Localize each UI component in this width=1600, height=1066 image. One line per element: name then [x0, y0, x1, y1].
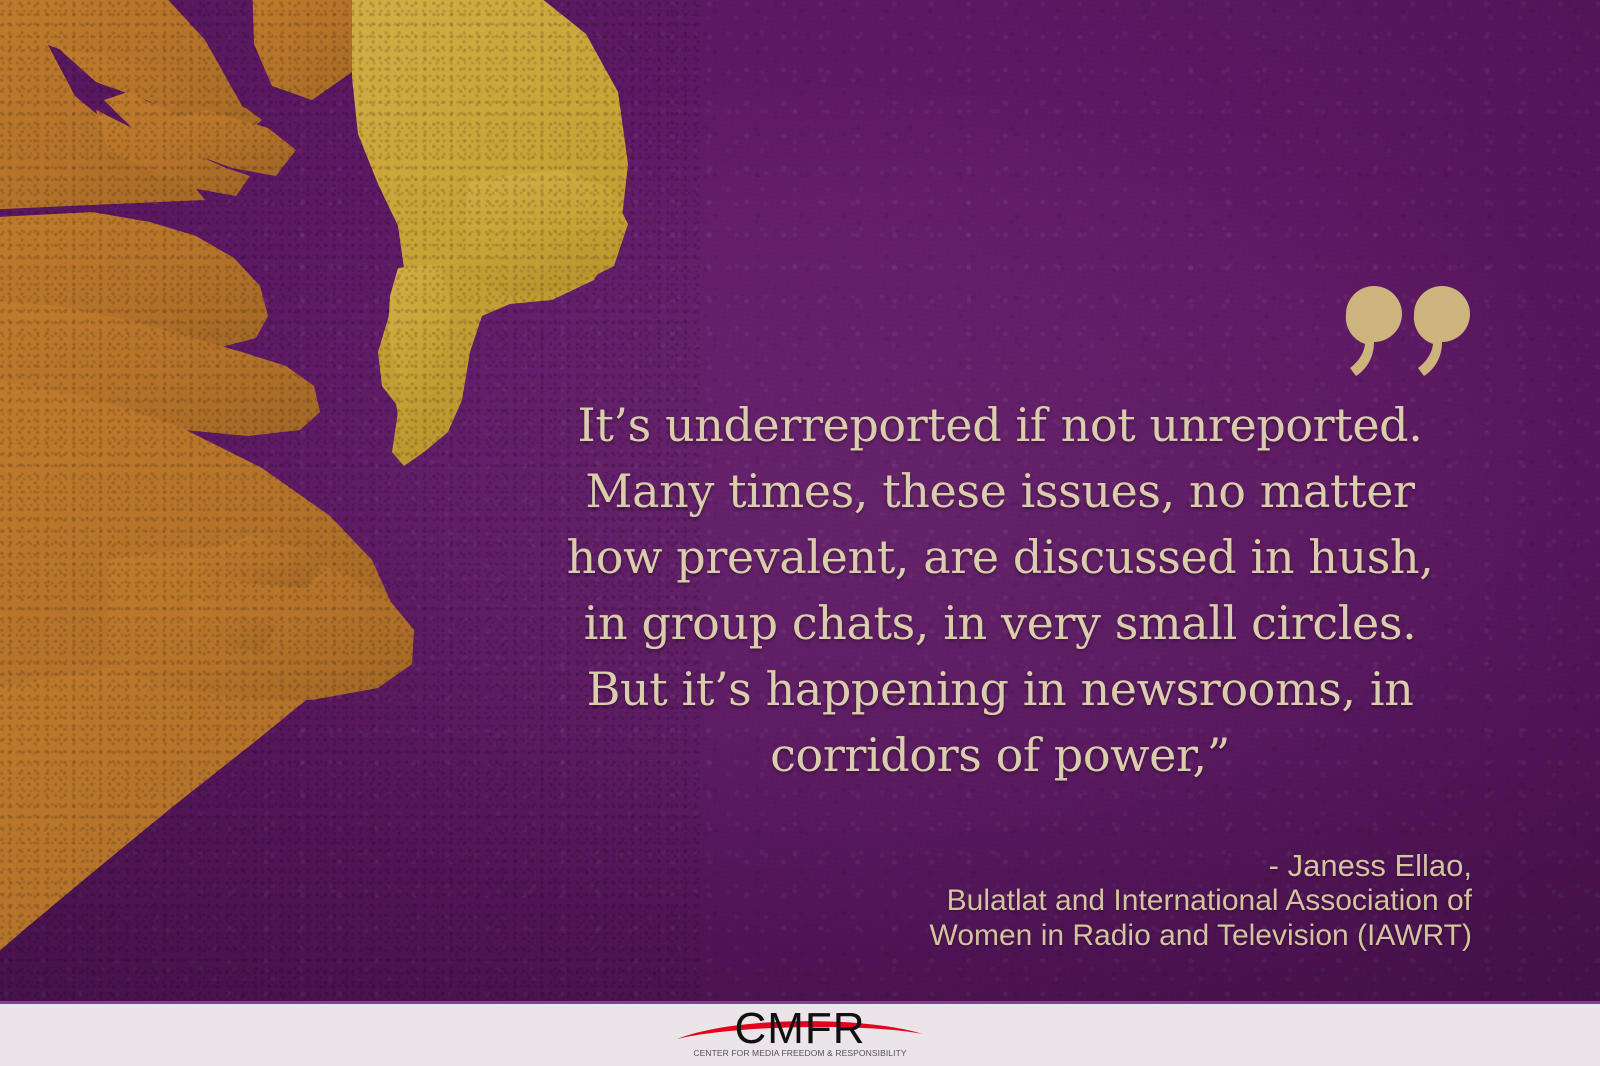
- quote-text: It’s underreported if not unreported. Ma…: [520, 392, 1480, 788]
- quote-line-1: It’s underreported if not unreported.: [520, 392, 1480, 458]
- attribution-speaker: - Janess Ellao,: [760, 848, 1472, 883]
- cmfr-logo[interactable]: CMFR CENTER FOR MEDIA FREEDOM & RESPONSI…: [675, 1006, 925, 1058]
- quote-line-4: in group chats, in very small circles.: [520, 590, 1480, 656]
- logo-wordmark: CMFR: [675, 1006, 925, 1050]
- attribution-affiliation-line-1: Bulatlat and International Association o…: [760, 883, 1472, 918]
- quote-line-5: But it’s happening in newsrooms, in: [520, 656, 1480, 722]
- quote-line-3: how prevalent, are discussed in hush,: [520, 524, 1480, 590]
- bottom-bar: CMFR CENTER FOR MEDIA FREEDOM & RESPONSI…: [0, 1001, 1600, 1066]
- quote-card: It’s underreported if not unreported. Ma…: [0, 0, 1600, 1066]
- quote-line-2: Many times, these issues, no matter: [520, 458, 1480, 524]
- attribution-block: - Janess Ellao, Bulatlat and Internation…: [760, 848, 1472, 953]
- closing-quotation-mark-icon: [1338, 282, 1478, 382]
- logo-mark: CMFR: [675, 1006, 925, 1050]
- orange-hand-and-phone-silhouettes: [0, 0, 414, 968]
- quote-line-6: corridors of power,”: [520, 722, 1480, 788]
- attribution-affiliation-line-2: Women in Radio and Television (IAWRT): [760, 918, 1472, 953]
